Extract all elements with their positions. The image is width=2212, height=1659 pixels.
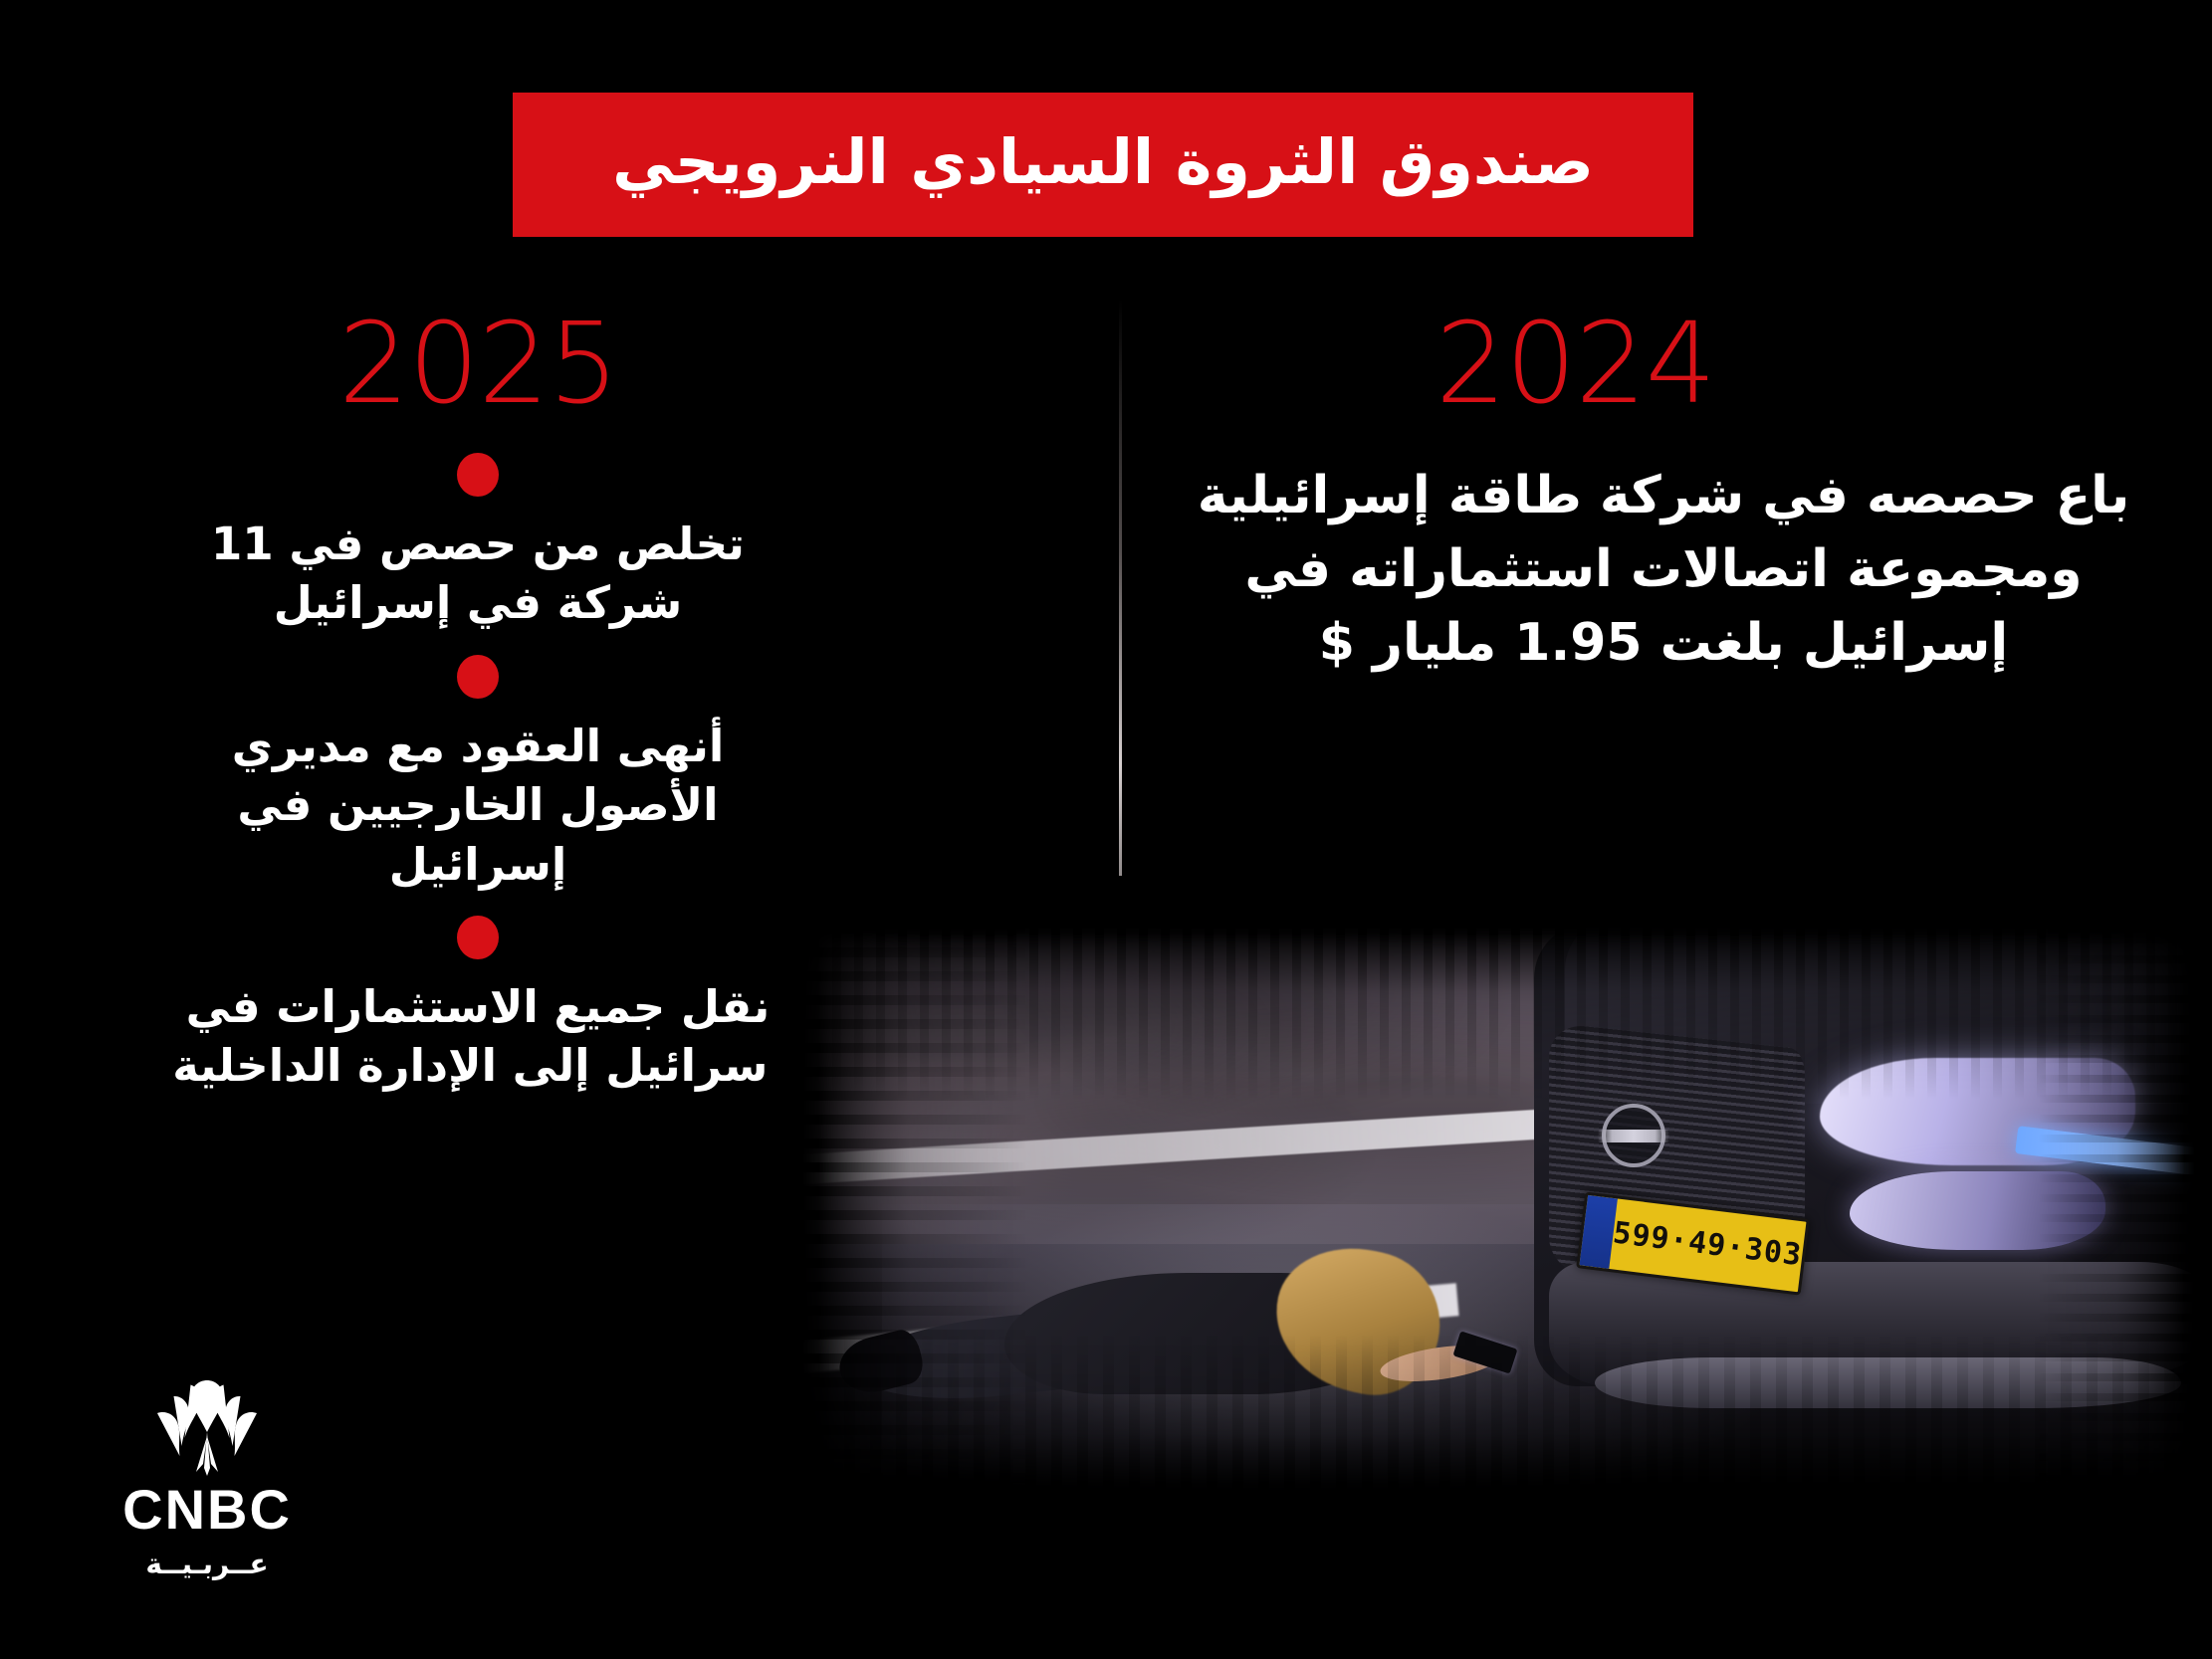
title-bar: صندوق الثروة السيادي النرويجي	[513, 93, 1693, 237]
infographic-canvas: صندوق الثروة السيادي النرويجي 2025 2024 …	[0, 0, 2212, 1659]
peacock-icon	[124, 1376, 290, 1476]
suv-bumper-lip	[1595, 1357, 2181, 1408]
column-2024-body-text: باع حصصه في شركة طاقة إسرائيلية ومجموعة …	[1155, 460, 2212, 680]
nissan-badge-icon	[1602, 1104, 1665, 1167]
year-label-2025: 2025	[338, 309, 618, 420]
timeline-column-2025: تخلص من حصص في 11 شركة في إسرائيل أنهى ا…	[119, 453, 836, 1118]
cnbc-arabia-logo: CNBC عــربـيــة	[88, 1376, 327, 1595]
page-title: صندوق الثروة السيادي النرويجي	[612, 131, 1594, 199]
list-item-label: أنهى العقود مع مديري الأصول الخارجيين في…	[119, 717, 836, 894]
nissan-suv: 599·49·303	[1489, 889, 2212, 1454]
person-lying-on-road	[839, 1237, 1591, 1434]
bullet-dot-icon	[457, 453, 499, 497]
list-item-label: نقل جميع الاستثمارات في إسرائيل إلى الإد…	[119, 977, 836, 1096]
news-photo-inner: 599·49·303	[767, 876, 2212, 1533]
logo-wordmark: CNBC	[122, 1482, 292, 1538]
bullet-dot-icon	[457, 655, 499, 699]
list-item: أنهى العقود مع مديري الأصول الخارجيين في…	[119, 655, 836, 894]
license-plate-number: 599·49·303	[1611, 1219, 1803, 1272]
list-item: تخلص من حصص في 11 شركة في إسرائيل	[119, 453, 836, 633]
list-item-label: تخلص من حصص في 11 شركة في إسرائيل	[119, 515, 836, 633]
license-plate-badge	[1578, 1195, 1617, 1269]
headlight-lower	[1850, 1171, 2105, 1250]
news-photo: 599·49·303	[767, 876, 2212, 1533]
timeline-column-2024: باع حصصه في شركة طاقة إسرائيلية ومجموعة …	[1155, 460, 2212, 680]
year-label-2024: 2024	[1436, 309, 1715, 420]
logo-locale-label: عــربـيــة	[145, 1548, 268, 1580]
list-item: نقل جميع الاستثمارات في إسرائيل إلى الإد…	[119, 916, 836, 1096]
bullet-dot-icon	[457, 916, 499, 959]
